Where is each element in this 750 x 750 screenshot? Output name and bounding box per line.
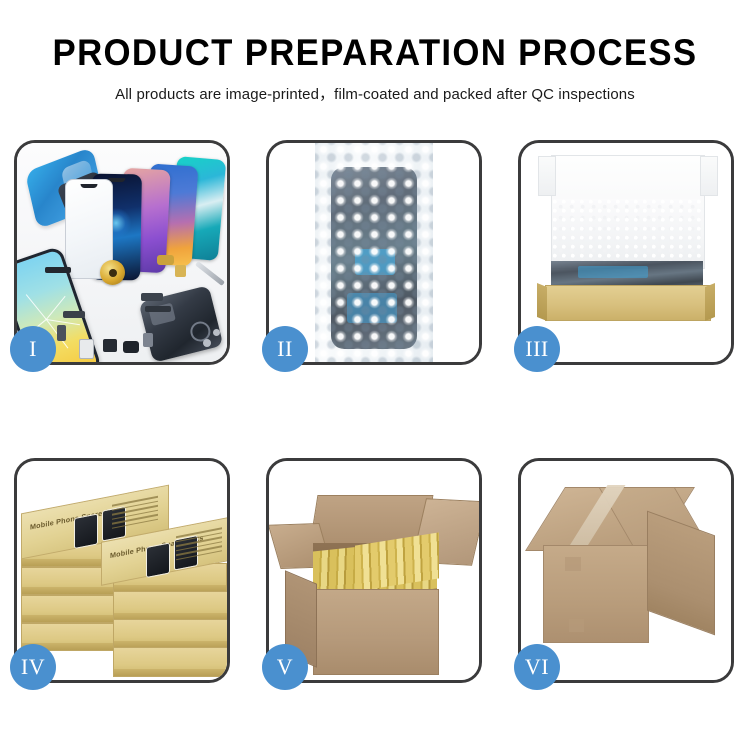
tray-corner-left — [537, 283, 547, 321]
carton-surface-mark — [565, 557, 581, 571]
box-phone-artwork — [146, 542, 170, 578]
stacked-box — [113, 619, 227, 649]
process-steps-grid: I II III — [14, 140, 736, 683]
phone-lineup — [65, 157, 227, 272]
step-badge-3: III — [514, 326, 560, 372]
spare-part — [157, 255, 174, 265]
stacked-box — [113, 591, 227, 621]
spare-part — [141, 293, 163, 301]
stacked-box — [21, 595, 117, 623]
step-badge-5: V — [262, 644, 308, 690]
spare-part — [175, 265, 186, 277]
foam-liner — [553, 199, 701, 263]
step-badge-4: IV — [10, 644, 56, 690]
spare-part — [79, 339, 94, 359]
page-subtitle: All products are image-printed，film-coat… — [6, 82, 745, 104]
bubble-wrap-sleeve — [315, 143, 433, 362]
bubble-highlights — [315, 143, 433, 362]
box-spec-lines — [112, 496, 158, 535]
spare-part — [63, 311, 85, 318]
screw-part — [213, 329, 220, 336]
step-image-3 — [521, 143, 731, 362]
crack-line — [26, 294, 47, 319]
spare-part — [57, 325, 66, 341]
screw-part — [203, 339, 211, 347]
spare-part — [45, 267, 71, 273]
step-panel-5[interactable]: V — [266, 458, 482, 683]
step-image-5 — [269, 461, 479, 680]
tray-corner-right — [705, 283, 715, 321]
step-panel-6[interactable]: VI — [518, 458, 734, 683]
step-badge-6: VI — [514, 644, 560, 690]
step-image-1 — [17, 143, 227, 362]
carton-front-face — [543, 545, 649, 643]
kraft-tray-body — [545, 285, 711, 321]
page-header: PRODUCT PREPARATION PROCESS All products… — [0, 0, 750, 104]
stacked-box — [113, 647, 227, 677]
carton-surface-mark — [569, 619, 584, 632]
step-panel-1[interactable]: I — [14, 140, 230, 365]
step-panel-4[interactable]: Mobile Phone Spare Parts Mobile Phone Sp… — [14, 458, 230, 683]
copper-coil-part — [100, 260, 125, 285]
glass-notch — [81, 184, 98, 188]
carton-front-face — [313, 589, 439, 675]
spare-part — [143, 333, 153, 347]
box-stack: Mobile Phone Spare Parts Mobile Phone Sp… — [19, 477, 227, 677]
step-panel-2[interactable]: II — [266, 140, 482, 365]
screw-grid-part — [99, 293, 137, 327]
step-image-2 — [269, 143, 479, 362]
box-phone-artwork — [74, 513, 98, 549]
step-panel-3[interactable]: III — [518, 140, 734, 365]
step-badge-1: I — [10, 326, 56, 372]
spare-part — [103, 339, 117, 352]
step-image-4: Mobile Phone Spare Parts Mobile Phone Sp… — [17, 461, 227, 680]
box-spec-lines — [176, 527, 222, 566]
carton-side-face — [647, 511, 715, 636]
page-title: PRODUCT PREPARATION PROCESS — [23, 32, 728, 73]
step-badge-2: II — [262, 326, 308, 372]
step-image-6 — [521, 461, 731, 680]
spare-part — [145, 306, 171, 312]
spare-part — [123, 341, 139, 353]
